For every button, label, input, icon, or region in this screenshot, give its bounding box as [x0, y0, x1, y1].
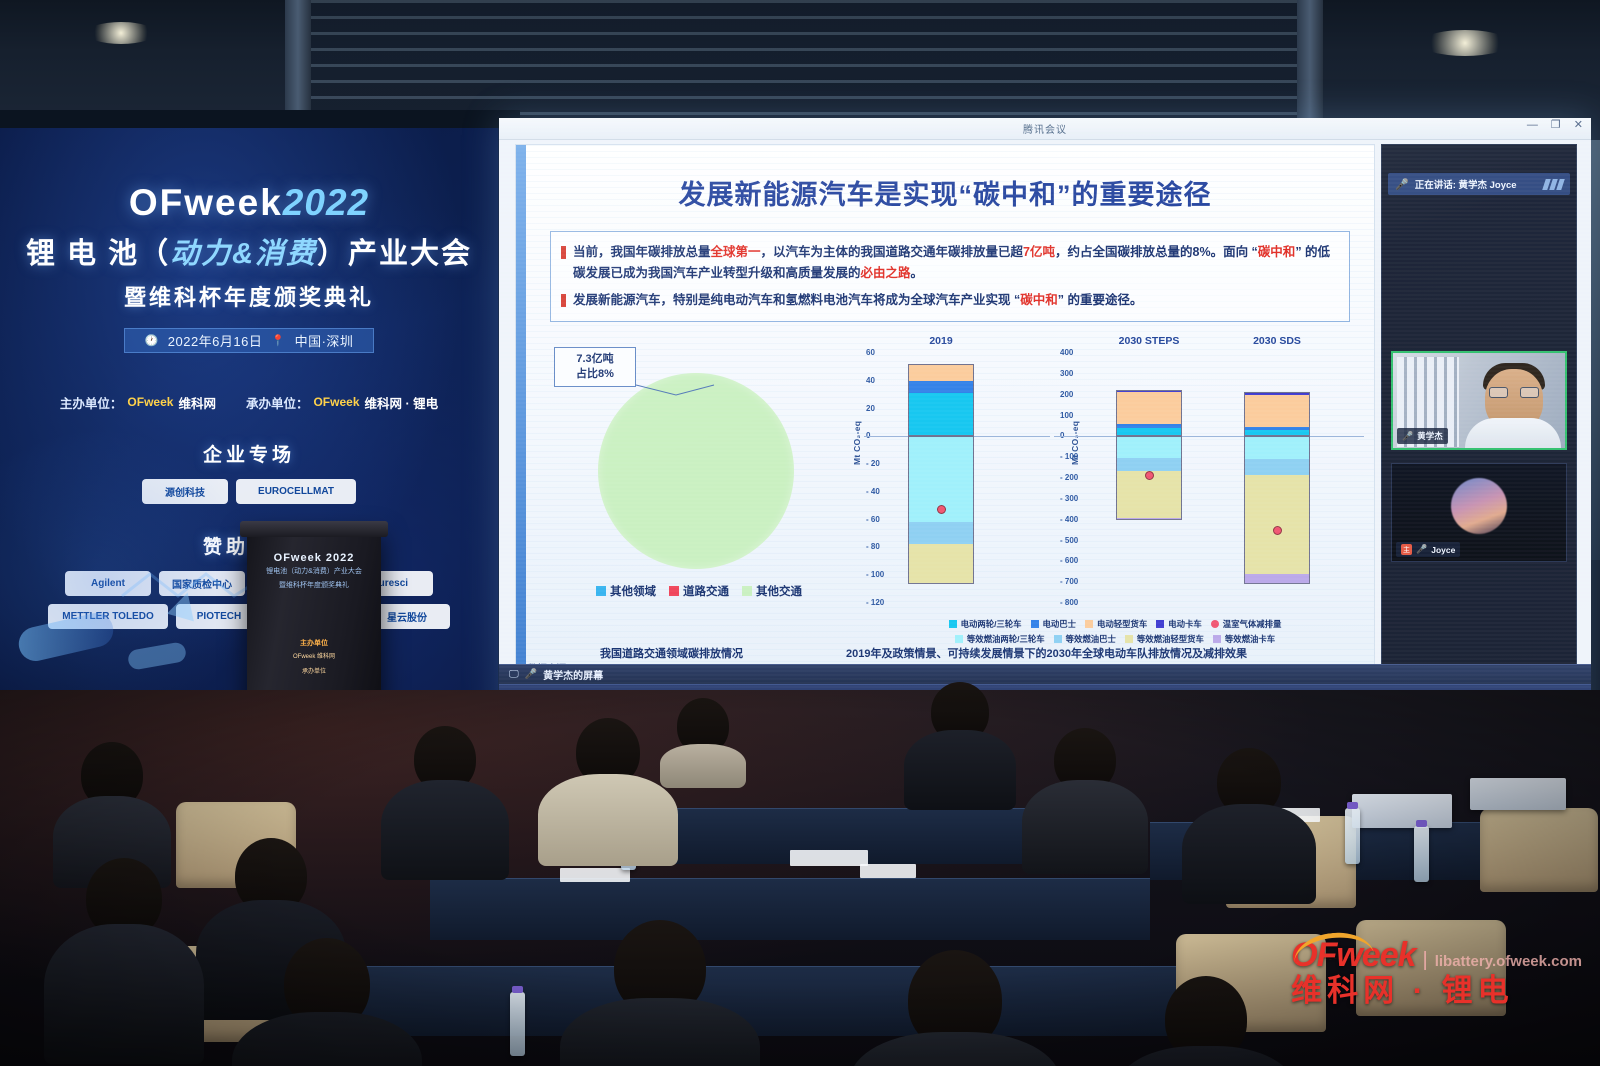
attendee-body	[538, 774, 678, 866]
attendee	[1182, 748, 1316, 898]
attendee	[380, 726, 510, 876]
app-title: 腾讯会议	[1023, 121, 1067, 136]
close-button[interactable]: ✕	[1574, 120, 1583, 131]
legend-swatch	[1156, 620, 1164, 628]
attendee	[1116, 976, 1296, 1066]
attendee-body	[660, 744, 746, 788]
bar-legend-item: 等效燃油卡车	[1213, 633, 1275, 645]
ghg-reduction-marker	[1145, 471, 1154, 480]
chair	[1356, 920, 1506, 1016]
bar-segment	[1245, 437, 1309, 459]
pie-chart: 7.3亿吨 占比8% 其他领域道路交通其他交通	[546, 351, 846, 601]
backdrop-brand: OFweek2022	[0, 184, 498, 223]
backdrop-line2: 锂 电 池（动力&消费）产业大会	[0, 230, 498, 272]
bar-legend-item: 电动轻型货车	[1085, 618, 1147, 630]
axis-tick-left: - 100	[866, 570, 884, 579]
legend-label: 电动轻型货车	[1097, 618, 1147, 630]
podium-brand: OFweek 2022	[266, 552, 362, 564]
attendee	[44, 858, 204, 1058]
bar-stack-positive	[1116, 390, 1182, 436]
caption-left: 我国道路交通领域碳排放情况	[600, 645, 743, 661]
water-bottle	[510, 992, 525, 1056]
backdrop-line2-a: 锂	[26, 238, 67, 270]
participant-nametag: 主 🎤 Joyce	[1396, 542, 1460, 557]
legend-label: 电动巴士	[1043, 618, 1077, 630]
legend-swatch	[1125, 635, 1133, 643]
paper-document	[860, 864, 916, 878]
water-bottle	[1414, 826, 1429, 882]
audio-wave-icon	[1544, 179, 1563, 190]
podium-top	[240, 521, 388, 537]
minimize-button[interactable]: —	[1527, 120, 1538, 131]
axis-tick-right: - 100	[1060, 452, 1078, 461]
backdrop-host: 主办单位： OFweek 维科网	[60, 393, 216, 412]
chair	[1480, 808, 1598, 892]
legend-label: 等效燃油巴士	[1066, 633, 1116, 645]
legend-swatch	[1054, 635, 1062, 643]
axis-tick-right: 300	[1060, 369, 1073, 378]
bar-segment	[1245, 574, 1309, 583]
participant-nametag: 🎤 黄学杰	[1397, 428, 1448, 444]
legend-swatch	[596, 586, 606, 596]
legend-label: 温室气体减排量	[1223, 618, 1282, 630]
axis-tick-right: - 700	[1060, 577, 1078, 586]
podium-subtitle-2: 暨维科杯年度颁奖典礼	[266, 581, 362, 592]
bar-legend-item-marker: 温室气体减排量	[1211, 618, 1282, 630]
participant-tile-speaking[interactable]: 🎤 黄学杰	[1391, 351, 1567, 450]
clock-icon: 🕐	[145, 334, 159, 347]
app-titlebar: 腾讯会议 — ❐ ✕	[499, 118, 1591, 140]
podium-badge-line3: 承办单位	[279, 666, 349, 675]
podium-subtitle-1: 锂电池（动力&消费）产业大会	[266, 567, 362, 578]
glasses-icon	[1489, 387, 1539, 398]
bar-segment	[1245, 475, 1309, 574]
participant-name: 黄学杰	[1417, 430, 1443, 442]
bar-legend-row: 电动两轮/三轮车电动巴士电动轻型货车电动卡车温室气体减排量	[860, 618, 1370, 630]
backdrop-coorg-name: 维科网 · 锂电	[365, 393, 439, 412]
axis-tick-right: - 400	[1060, 515, 1078, 524]
restore-button[interactable]: ❐	[1551, 120, 1561, 131]
slide-accent-bar	[516, 145, 526, 685]
backdrop-host-name: 维科网	[178, 393, 216, 412]
axis-tick-right: - 200	[1060, 473, 1078, 482]
bar-segment	[909, 381, 973, 393]
pie-legend: 其他领域道路交通其他交通	[552, 583, 846, 599]
bar-segment	[1117, 428, 1181, 435]
attendee	[560, 920, 760, 1066]
bar-group-title: 2019	[908, 335, 974, 347]
backdrop-host-logo: OFweek	[127, 395, 173, 409]
axis-tick-left: - 40	[866, 487, 880, 496]
bar-segment	[1245, 430, 1309, 435]
legend-label: 等效燃油卡车	[1225, 633, 1275, 645]
attendee	[904, 682, 1016, 802]
ghg-reduction-marker	[1273, 526, 1282, 535]
legend-label: 电动卡车	[1168, 618, 1202, 630]
axis-tick-left: 40	[866, 376, 875, 385]
bar-legend-item: 等效燃油巴士	[1054, 633, 1116, 645]
slide-bullet-text: 发展新能源汽车，特别是纯电动汽车和氢燃料电池汽车将成为全球汽车产业实现 “碳中和…	[573, 290, 1143, 311]
axis-tick-right: 400	[1060, 348, 1073, 357]
caption-right: 2019年及政策情景、可持续发展情景下的2030年全球电动车队排放情况及减排效果	[846, 645, 1247, 661]
screen-share-bar: 🖵 🎤 黄学杰的屏幕	[499, 664, 1591, 684]
pie-annotation-line1: 7.3亿吨	[560, 352, 630, 367]
host-badge-icon: 主	[1401, 544, 1412, 555]
slide-bullet-text: 当前，我国年碳排放总量全球第一，以汽车为主体的我国道路交通年碳排放量已超7亿吨，…	[573, 242, 1337, 283]
backdrop-line2-b: 电 池（	[67, 238, 170, 270]
slide-callout-box: 当前，我国年碳排放总量全球第一，以汽车为主体的我国道路交通年碳排放量已超7亿吨，…	[550, 231, 1350, 322]
bar-segment	[1245, 395, 1309, 427]
bar-legend-item: 等效燃油轻型货车	[1125, 633, 1204, 645]
backdrop-place: 中国·深圳	[295, 331, 354, 350]
legend-label: 道路交通	[683, 583, 729, 599]
slide-bullet: 发展新能源汽车，特别是纯电动汽车和氢燃料电池汽车将成为全球汽车产业实现 “碳中和…	[561, 290, 1337, 311]
axis-tick-left: - 80	[866, 542, 880, 551]
pie-annotation: 7.3亿吨 占比8%	[554, 347, 636, 387]
projection-screen: 腾讯会议 — ❐ ✕ 发展新能源汽车是实现“碳中和”的重要途径 当前，我国年碳排…	[499, 118, 1591, 726]
conference-table	[430, 878, 1150, 940]
participant-shirt	[1465, 418, 1561, 448]
backdrop-meta: 🕐 2022年6月16日 📍 中国·深圳	[124, 328, 374, 353]
bar-segment	[909, 522, 973, 544]
backdrop-date: 2022年6月16日	[168, 331, 263, 350]
attendee	[538, 718, 678, 858]
backdrop-line2-c: ）产业大会	[317, 238, 472, 270]
attendee-body	[44, 924, 204, 1064]
attendee	[660, 698, 746, 778]
axis-tick-left: 20	[866, 404, 875, 413]
backdrop-title-block: OFweek2022 锂 电 池（动力&消费）产业大会 暨维科杯年度颁奖典礼 🕐…	[0, 184, 498, 353]
microphone-icon: 🎤	[525, 669, 537, 680]
bar-legend-item: 电动巴士	[1031, 618, 1077, 630]
legend-label: 等效燃油轻型货车	[1137, 633, 1204, 645]
legend-label: 其他领域	[610, 583, 656, 599]
podium-badge-line1: 主办单位	[279, 638, 349, 648]
attendee-body	[1022, 780, 1148, 874]
avatar	[1451, 478, 1507, 534]
attendee-body	[1116, 1046, 1296, 1066]
bar-legend-item: 电动卡车	[1156, 618, 1202, 630]
axis-tick-left: - 20	[866, 459, 880, 468]
bar-legend-item: 电动两轮/三轮车	[949, 618, 1022, 630]
axis-tick-right: 100	[1060, 411, 1073, 420]
monitor-icon: 🖵	[509, 669, 519, 680]
pie-legend-item: 其他交通	[742, 583, 802, 599]
microphone-icon: 🎤	[1395, 178, 1409, 191]
attendee-body	[850, 1032, 1060, 1066]
participant-rail: 🎤 正在讲话: 黄学杰 Joyce 🎤 黄学杰	[1381, 144, 1577, 684]
paper-document	[790, 850, 868, 866]
pie-annotation-leader	[636, 373, 720, 413]
slide-charts: 7.3亿吨 占比8% 其他领域道路交通其他交通 Mt CO₂-eq Mt CO₂…	[530, 335, 1370, 635]
axis-tick-left: - 120	[866, 598, 884, 607]
axis-tick-right: - 800	[1060, 598, 1078, 607]
bullet-marker-icon	[561, 294, 566, 307]
legend-label: 其他交通	[756, 583, 802, 599]
bar-segment	[909, 544, 973, 582]
backdrop-host-label: 主办单位：	[60, 393, 123, 412]
ceiling-light	[1420, 30, 1510, 56]
legend-label: 电动两轮/三轮车	[961, 618, 1022, 630]
axis-tick-left: 60	[866, 348, 875, 357]
attendee-body	[381, 780, 509, 880]
pin-icon: 📍	[271, 334, 285, 347]
slide-title: 发展新能源汽车是实现“碳中和”的重要途径	[516, 173, 1374, 212]
bullet-marker-icon	[561, 246, 566, 259]
backdrop-year: 2022	[283, 182, 369, 223]
bar-legend: 电动两轮/三轮车电动巴士电动轻型货车电动卡车温室气体减排量等效燃油两轮/三轮车等…	[860, 618, 1370, 648]
laptop	[1470, 778, 1566, 810]
pie-annotation-line2: 占比8%	[560, 367, 630, 382]
attendee-body	[904, 730, 1016, 810]
pie-legend-item: 其他领域	[596, 583, 656, 599]
axis-tick-right: - 300	[1060, 494, 1078, 503]
legend-swatch	[1031, 620, 1039, 628]
pie-legend-item: 道路交通	[669, 583, 729, 599]
bar-segment	[909, 393, 973, 435]
bar-axis-label-left: Mt CO₂-eq	[852, 375, 862, 465]
bar-legend-row: 等效燃油两轮/三轮车等效燃油巴士等效燃油轻型货车等效燃油卡车	[860, 633, 1370, 645]
podium-panel: OFweek 2022 锂电池（动力&消费）产业大会 暨维科杯年度颁奖典礼	[266, 552, 362, 614]
audience-area	[0, 690, 1600, 1066]
backdrop-line3: 暨维科杯年度颁奖典礼	[0, 280, 498, 312]
legend-swatch	[742, 586, 752, 596]
axis-tick-right: 200	[1060, 390, 1073, 399]
water-bottle	[1345, 808, 1360, 864]
bar-segment	[1117, 518, 1181, 520]
bar-segment	[1117, 392, 1181, 423]
legend-swatch	[949, 620, 957, 628]
bar-segment	[1117, 437, 1181, 457]
axis-tick-left: - 60	[866, 515, 880, 524]
active-speaker-banner: 🎤 正在讲话: 黄学杰 Joyce	[1388, 173, 1570, 195]
bar-stack-negative	[1244, 436, 1310, 584]
active-speaker-text: 正在讲话: 黄学杰 Joyce	[1415, 177, 1517, 191]
legend-swatch	[955, 635, 963, 643]
axis-tick-right: - 600	[1060, 556, 1078, 565]
conference-photo: OFweek2022 锂 电 池（动力&消费）产业大会 暨维科杯年度颁奖典礼 🕐…	[0, 0, 1600, 1066]
legend-swatch	[1085, 620, 1093, 628]
attendee-body	[560, 998, 760, 1066]
bar-segment	[1245, 459, 1309, 475]
legend-marker-swatch	[1211, 620, 1219, 628]
bar-group-title: 2030 STEPS	[1116, 335, 1182, 347]
bar-stack-positive	[908, 364, 974, 436]
bar-group-title: 2030 SDS	[1244, 335, 1310, 347]
backdrop-coorganizer: 承办单位： OFweek 维科网 · 锂电	[246, 393, 438, 412]
legend-swatch	[669, 586, 679, 596]
legend-label: 等效燃油两轮/三轮车	[967, 633, 1045, 645]
backdrop-organizers: 主办单位： OFweek 维科网 承办单位： OFweek 维科网 · 锂电	[0, 393, 498, 412]
podium-badge: 主办单位 OFweek 维科网 承办单位	[279, 638, 349, 678]
legend-swatch	[1213, 635, 1221, 643]
backdrop-coorg-label: 承办单位：	[246, 393, 309, 412]
attendee	[232, 938, 422, 1066]
bar-stack-positive	[1244, 392, 1310, 436]
backdrop-brand-text: OFweek	[129, 182, 283, 223]
microphone-icon: 🎤	[1416, 544, 1427, 555]
window-controls: — ❐ ✕	[1527, 120, 1583, 131]
attendee-body	[232, 1012, 422, 1066]
bar-chart: Mt CO₂-eq Mt CO₂-eq 6040200- 20- 40- 60-…	[848, 335, 1368, 615]
ghg-reduction-marker	[937, 505, 946, 514]
slide-bullet: 当前，我国年碳排放总量全球第一，以汽车为主体的我国道路交通年碳排放量已超7亿吨，…	[561, 242, 1337, 283]
bar-segment	[909, 365, 973, 381]
shared-slide: 发展新能源汽车是实现“碳中和”的重要途径 当前，我国年碳排放总量全球第一，以汽车…	[515, 144, 1375, 684]
attendee	[850, 950, 1060, 1066]
screen-share-label: 黄学杰的屏幕	[543, 667, 603, 682]
attendee	[1022, 728, 1148, 868]
participant-name: Joyce	[1431, 545, 1455, 555]
ceiling-beam-right	[1297, 0, 1323, 130]
ceiling-light	[86, 22, 156, 44]
backdrop-line2-em: 动力&消费	[170, 238, 317, 270]
axis-tick-right: - 500	[1060, 536, 1078, 545]
bar-segment	[1117, 458, 1181, 471]
microphone-icon: 🎤	[1402, 431, 1413, 442]
ceiling-slats	[300, 0, 1300, 120]
podium-badge-line2: OFweek 维科网	[279, 651, 349, 660]
attendee-body	[1182, 804, 1316, 904]
bar-legend-item: 等效燃油两轮/三轮车	[955, 633, 1045, 645]
paper-document	[560, 868, 630, 882]
backdrop-coorg-logo: OFweek	[313, 395, 359, 409]
participant-tile[interactable]: 主 🎤 Joyce	[1391, 463, 1567, 562]
laptop	[1352, 794, 1452, 828]
bar-zero-line	[1054, 436, 1364, 437]
